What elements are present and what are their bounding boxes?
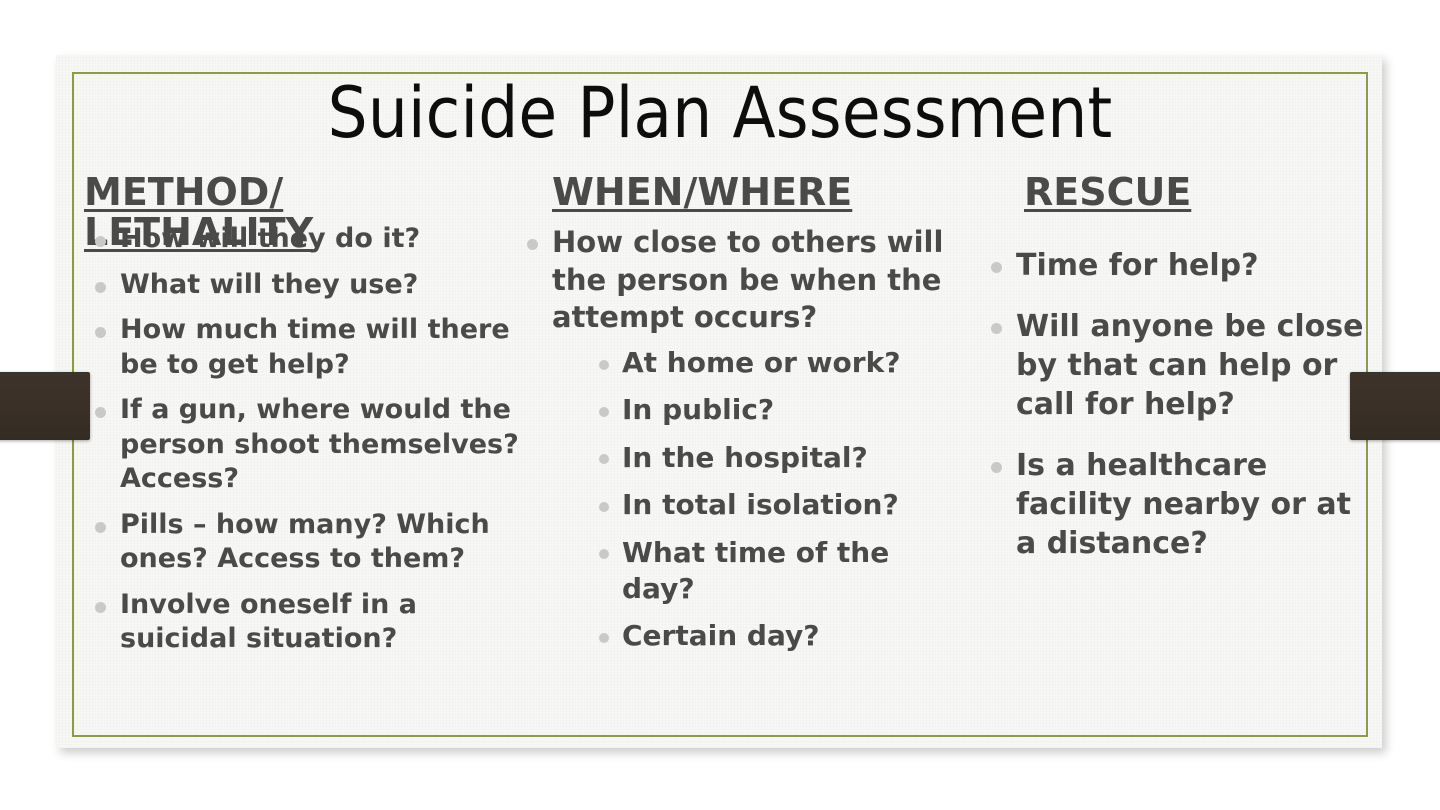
column-heading-text: WHEN/WHERE [552,170,852,214]
column-heading-rescue: RESCUE [980,172,1370,212]
sub-bullet-list-when-where: At home or work? In public? In the hospi… [552,345,968,655]
list-item: Time for help? [980,246,1370,285]
list-item: Is a healthcare facility nearby or at a … [980,446,1370,563]
list-item: Will anyone be close by that can help or… [980,307,1370,424]
list-item: How much time will there be to get help? [84,313,522,382]
list-item: What time of the day? [590,535,968,608]
list-item: Involve oneself in a suicidal situation? [84,588,522,657]
list-item: In total isolation? [590,487,968,523]
column-heading-wrapper: RESCUE [980,172,1370,228]
column-heading-text: RESCUE [1024,170,1191,214]
list-item: If a gun, where would the person shoot t… [84,393,522,497]
bullet-list-method-lethality: How will they do it? What will they use?… [84,222,522,657]
list-item: How close to others will the person be w… [516,224,968,655]
bullet-list-when-where: How close to others will the person be w… [516,224,968,655]
list-item: Pills – how many? Which ones? Access to … [84,508,522,577]
column-heading-when-where: WHEN/WHERE [516,172,968,212]
list-item: At home or work? [590,345,968,381]
slide-stage: Suicide Plan Assessment METHOD/ LETHALIT… [0,0,1440,810]
list-item: What will they use? [84,268,522,303]
decorative-bar-right [1350,372,1440,440]
column-method-lethality: METHOD/ LETHALITY How will they do it? W… [84,172,522,668]
list-item: How will they do it? [84,222,522,257]
column-rescue: RESCUE Time for help? Will anyone be clo… [980,172,1370,585]
decorative-bar-left [0,372,90,440]
column-when-where: WHEN/WHERE How close to others will the … [516,172,968,666]
list-item: In the hospital? [590,440,968,476]
list-item: Certain day? [590,618,968,654]
column-heading-wrapper: WHEN/WHERE [516,172,968,222]
list-item-text: How close to others will the person be w… [552,225,943,334]
list-item: In public? [590,392,968,428]
bullet-list-rescue: Time for help? Will anyone be close by t… [980,246,1370,563]
page-title: Suicide Plan Assessment [0,78,1440,148]
column-heading-wrapper: METHOD/ LETHALITY [84,172,522,228]
